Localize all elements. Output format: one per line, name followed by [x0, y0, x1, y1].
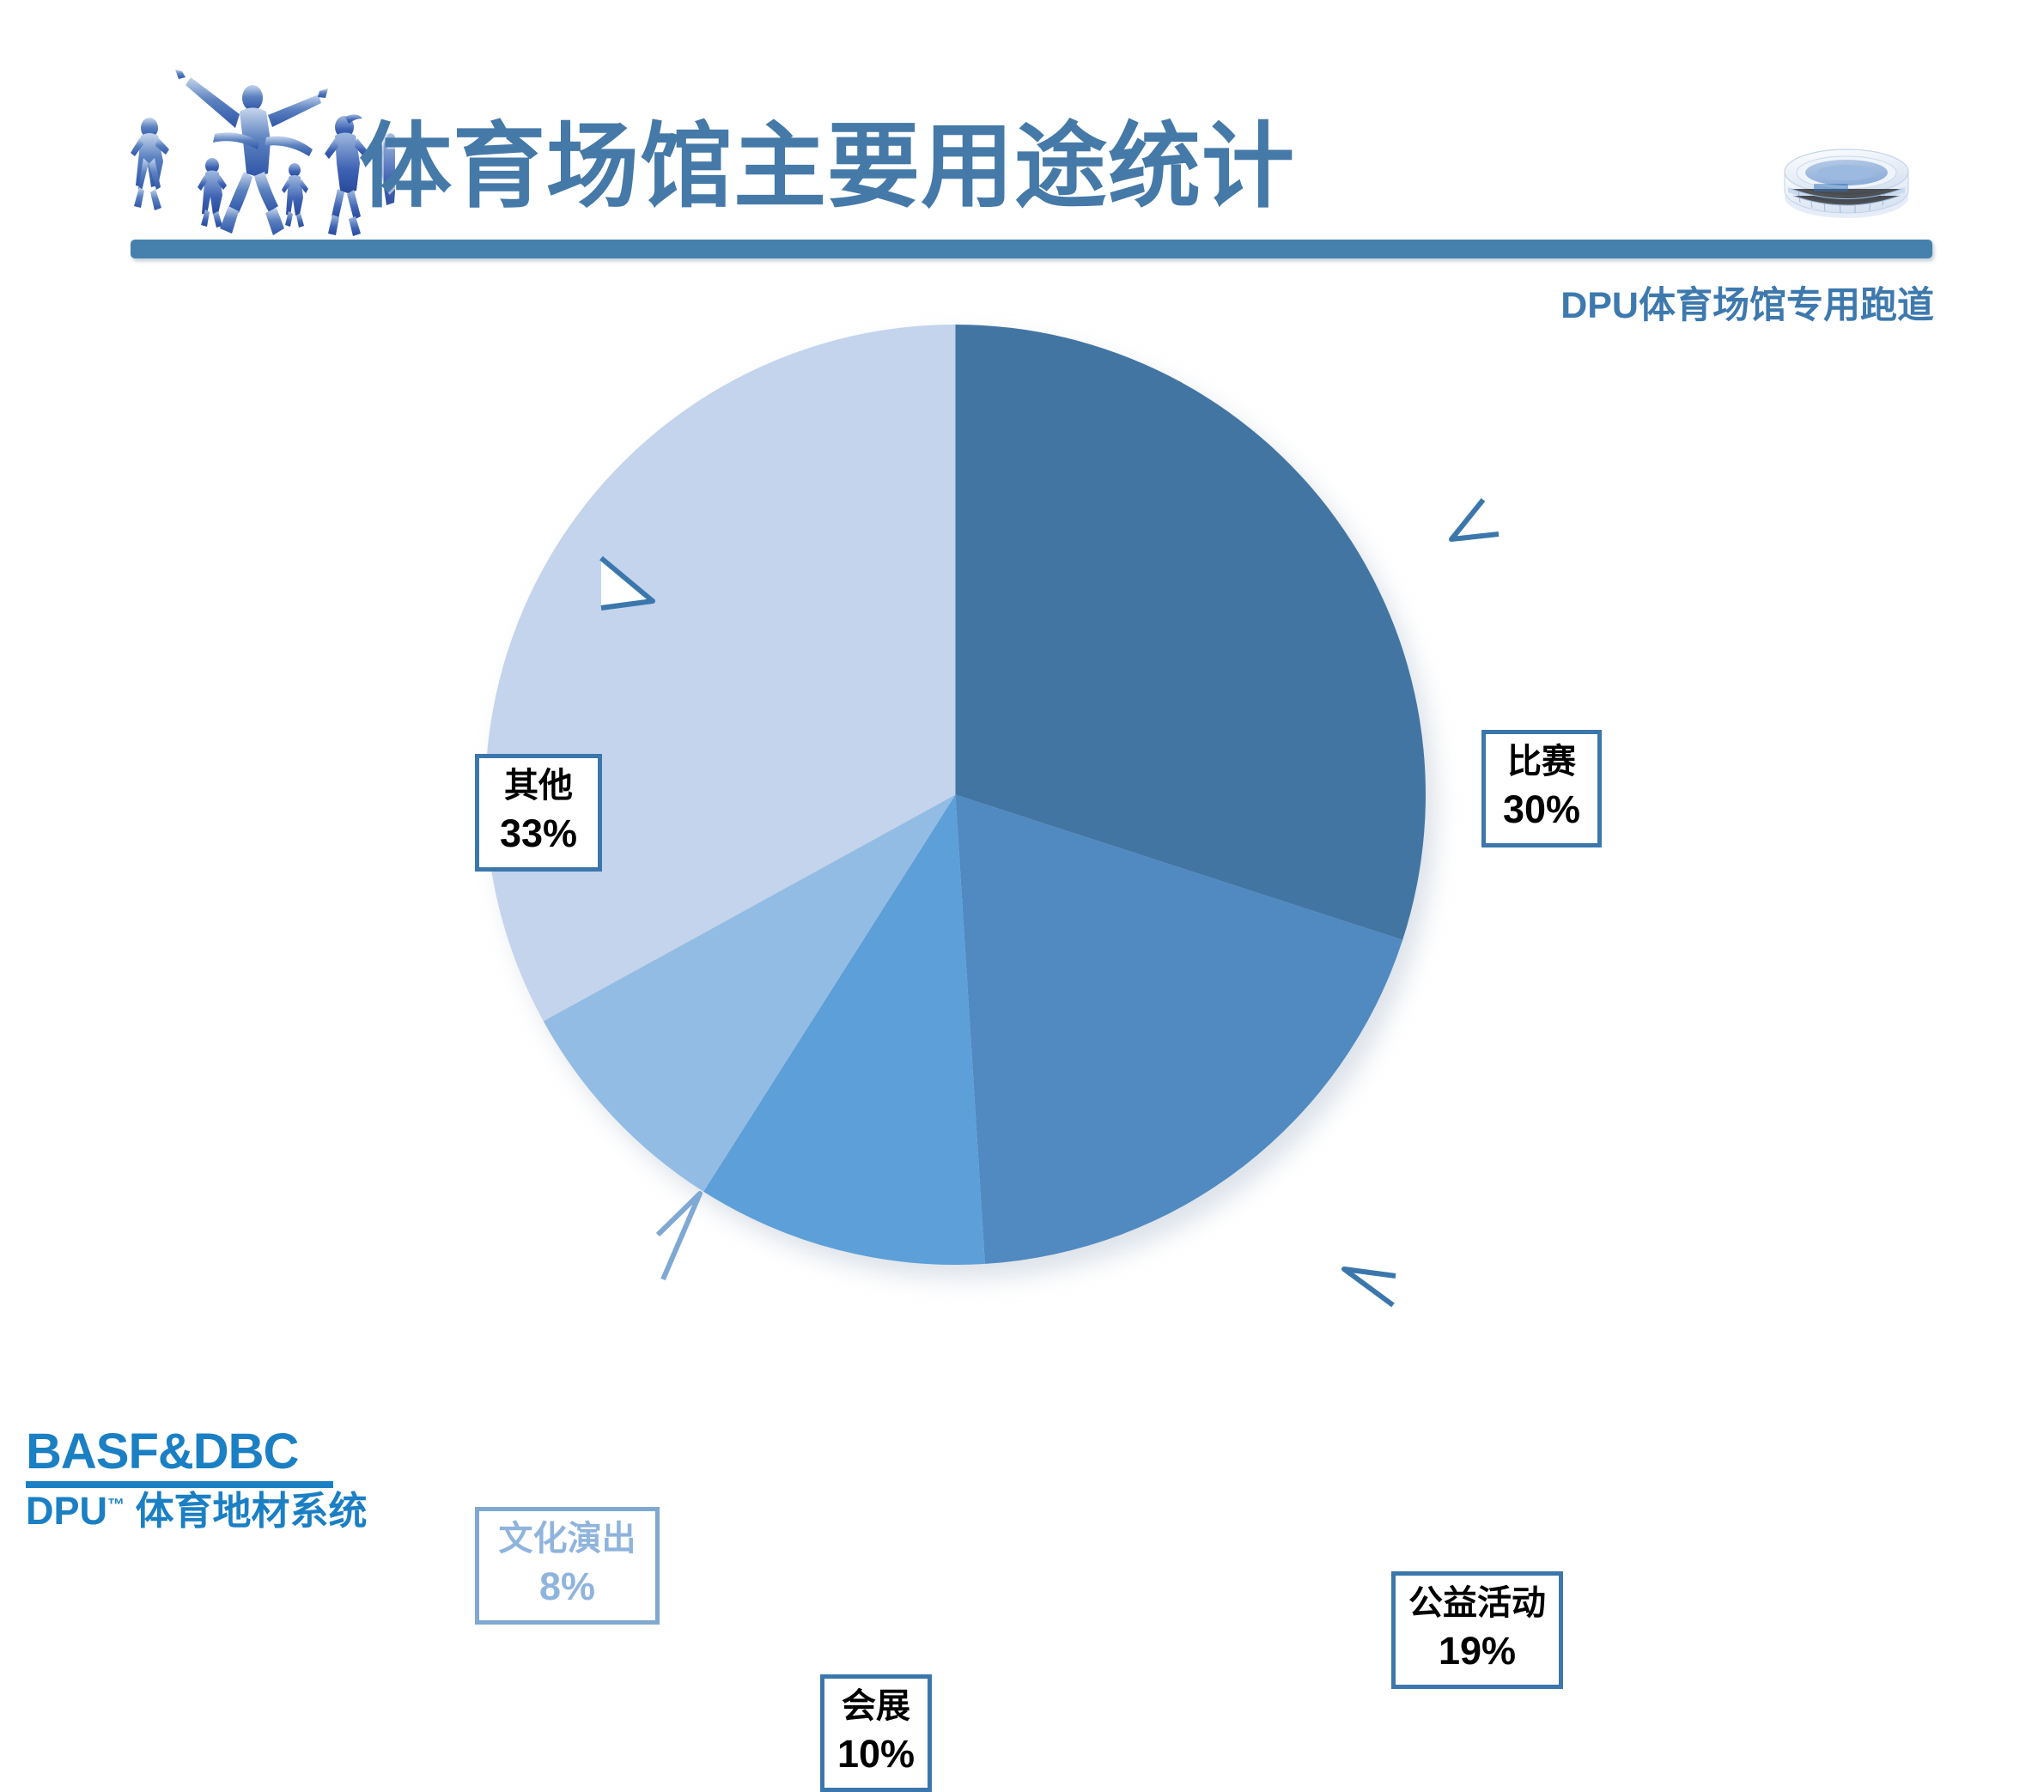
callout-label-huizhan[interactable]: 会展 10% — [820, 1674, 932, 1792]
callout-label-gongyi[interactable]: 公益活动 19% — [1391, 1571, 1563, 1689]
callout-label-qita-name: 其他 — [488, 767, 589, 805]
callout-label-bisai[interactable]: 比赛 30% — [1481, 730, 1602, 847]
callout-label-gongyi-pct: 19% — [1404, 1630, 1550, 1673]
header-accent-bar — [131, 240, 1932, 258]
callout-label-huizhan-name: 会展 — [833, 1687, 919, 1726]
slide-header: 体育场馆主要用途统计 DPU体育场馆专用跑道 — [0, 0, 2044, 258]
pie-chart: 比赛 30% 公益活动 19% 会展 10% 文化演出 8% 其他 33% — [0, 283, 2044, 1400]
callout-label-gongyi-name: 公益活动 — [1404, 1584, 1550, 1623]
trademark-symbol: ™ — [107, 1496, 125, 1515]
running-athletes-silhouette-icon — [129, 41, 395, 247]
brand-logo-divider — [26, 1481, 333, 1488]
callout-label-huizhan-pct: 10% — [833, 1733, 919, 1776]
pie-slices — [485, 325, 1426, 1265]
brand-logo-dpu-cn: 体育地材系统 — [136, 1489, 368, 1533]
slide-root: { "header": { "title": "体育场馆主要用途统计", "su… — [0, 0, 2044, 1540]
callout-label-bisai-pct: 30% — [1494, 788, 1589, 831]
stadium-icon — [1769, 118, 1924, 222]
callout-label-wenhua-name: 文化演出 — [488, 1520, 647, 1558]
callout-label-wenhua-pct: 8% — [488, 1565, 647, 1608]
callout-label-qita-pct: 33% — [488, 812, 589, 855]
callout-label-qita[interactable]: 其他 33% — [475, 754, 602, 872]
page-title: 体育场馆主要用途统计 — [359, 120, 1295, 213]
pie-graphic — [485, 325, 1426, 1265]
brand-logo-basf-dbc: BASF&DBC — [26, 1427, 344, 1477]
brand-logo-dpu: DPU — [26, 1489, 107, 1533]
callout-label-wenhua[interactable]: 文化演出 8% — [475, 1507, 660, 1625]
callout-label-bisai-name: 比赛 — [1494, 743, 1589, 781]
brand-logo: BASF&DBC DPU™ 体育地材系统 — [26, 1427, 344, 1530]
brand-logo-dpu-line: DPU™ 体育地材系统 — [26, 1491, 344, 1530]
